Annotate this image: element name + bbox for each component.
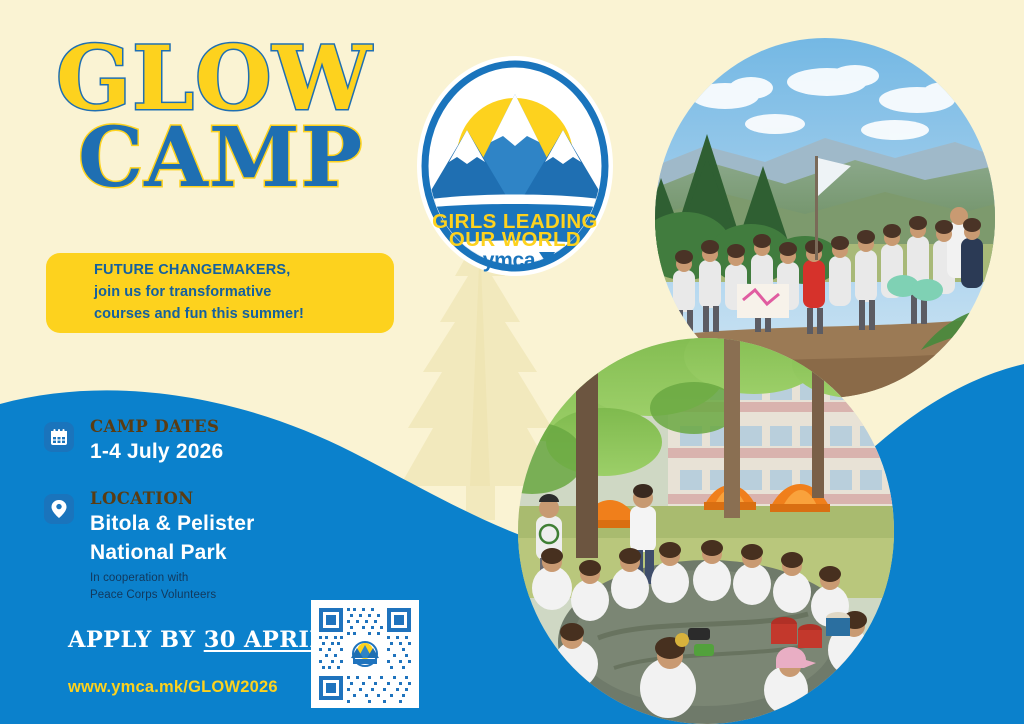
page-title: GLOW CAMP — [56, 38, 456, 196]
location-value-line2: National Park — [90, 540, 254, 565]
title-line-glow: GLOW — [56, 38, 456, 119]
title-line-camp: CAMP — [78, 121, 456, 196]
location-pin-icon — [44, 494, 74, 524]
glow-ymca-logo: GIRLS LEADING OUR WORLD ymca — [411, 52, 619, 280]
apply-prefix: APPLY BY — [68, 627, 204, 653]
info-row-dates: CAMP DATES 1-4 July 2026 — [44, 418, 344, 464]
calendar-icon — [44, 422, 74, 452]
info-row-location: LOCATION Bitola & Pelister National Park — [44, 490, 344, 565]
location-label: LOCATION — [90, 490, 254, 508]
info-block: CAMP DATES 1-4 July 2026 LOCATION Bitola… — [44, 418, 344, 591]
info-text-dates: CAMP DATES 1-4 July 2026 — [90, 418, 223, 464]
photo-campers-circle — [518, 338, 894, 724]
info-text-location: LOCATION Bitola & Pelister National Park — [90, 490, 254, 565]
cooperation-line-2: Peace Corps Volunteers — [90, 587, 216, 604]
cooperation-note: In cooperation with Peace Corps Voluntee… — [90, 570, 216, 603]
callout-box: FUTURE CHANGEMAKERS, join us for transfo… — [46, 253, 394, 333]
location-value-line1: Bitola & Pelister — [90, 511, 254, 536]
logo-arc-line2: OUR WORLD — [449, 228, 581, 251]
logo-wordmark: ymca — [483, 249, 536, 272]
callout-line-2: join us for transformative — [94, 282, 304, 304]
callout-line-1: FUTURE CHANGEMAKERS, — [94, 260, 304, 282]
cooperation-line-1: In cooperation with — [90, 570, 216, 587]
registration-url[interactable]: www.ymca.mk/GLOW2026 — [68, 678, 278, 697]
callout-text: FUTURE CHANGEMAKERS, join us for transfo… — [46, 260, 304, 325]
apply-deadline: APPLY BY 30 APRIL! — [68, 627, 336, 653]
callout-line-3: courses and fun this summer! — [94, 304, 304, 326]
dates-label: CAMP DATES — [90, 418, 223, 436]
poster-canvas: GLOW CAMP — [0, 0, 1024, 724]
dates-value: 1-4 July 2026 — [90, 439, 223, 464]
qr-code[interactable] — [311, 600, 419, 708]
